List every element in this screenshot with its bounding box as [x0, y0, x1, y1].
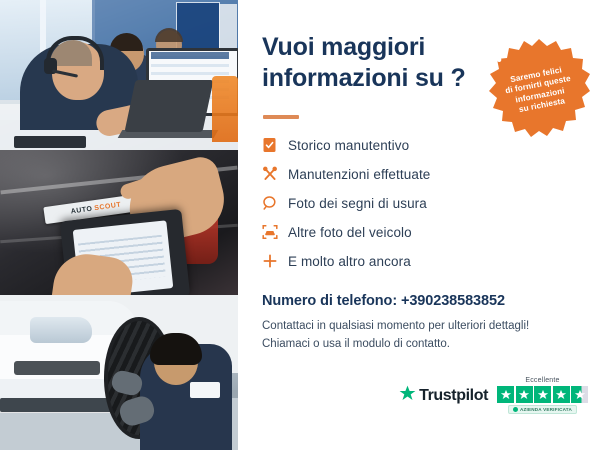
trustpilot-rating-label: Eccellente: [525, 377, 559, 384]
car-grille-shape: [14, 361, 100, 375]
page-title: Vuoi maggiori informazioni su ?: [262, 32, 492, 93]
sticker-text-primary: AUTO: [70, 206, 92, 216]
vehicle-lift-arm-shape: [0, 398, 116, 412]
feature-label: Manutenzioni effettuate: [288, 167, 430, 182]
verified-check-icon: [513, 407, 518, 412]
feature-label: Storico manutentivo: [288, 138, 409, 153]
trustpilot-rating-block[interactable]: Trustpilot Eccellente: [399, 377, 588, 414]
star-filled-3: [534, 386, 551, 403]
magnifier-icon: [262, 195, 288, 211]
contact-note-line-2: Chiamaci o usa il modulo di contatto.: [262, 336, 552, 354]
feature-label: E molto altro ancora: [288, 254, 411, 269]
vehicle-label-tablet-photo: AUTO SCOUT: [0, 150, 238, 295]
badge-text-block: Saremo felici di fornirti queste informa…: [502, 64, 575, 118]
contact-note: Contattaci in qualsiasi momento per ulte…: [262, 318, 552, 354]
trustpilot-wordmark: Trustpilot: [419, 387, 488, 405]
wrench-screwdriver-icon: [262, 166, 288, 182]
call-center-agents-photo: [0, 0, 238, 150]
keyboard-shape: [14, 136, 86, 148]
feature-item-storico-manutentivo: Storico manutentivo: [262, 131, 512, 159]
laptop-screen-shape: [124, 80, 213, 132]
mechanic-uniform-badge-shape: [190, 382, 220, 398]
car-headlamp-shape: [30, 317, 92, 343]
plus-icon: [262, 253, 288, 269]
sticker-text-accent: SCOUT: [94, 202, 122, 213]
trustpilot-stars: [497, 386, 588, 403]
checklist-document-icon: [262, 137, 288, 153]
verified-business-badge: AZIENDA VERIFICATA: [508, 405, 577, 414]
headline-line-2: informazioni su ?: [262, 63, 492, 94]
car-scan-frame-icon: [262, 224, 288, 240]
verified-business-label: AZIENDA VERIFICATA: [520, 407, 572, 412]
feature-item-foto-segni-usura: Foto dei segni di usura: [262, 189, 512, 217]
title-underline-divider: [263, 115, 299, 119]
feature-item-altre-foto-veicolo: Altre foto del veicolo: [262, 218, 512, 246]
feature-item-molto-altro: E molto altro ancora: [262, 247, 512, 275]
star-filled-1: [497, 386, 514, 403]
trustpilot-logo[interactable]: Trustpilot: [399, 385, 488, 407]
monitor-toolbar-shape: [151, 52, 229, 59]
content-panel: Vuoi maggiori informazioni su ? Storico …: [238, 0, 600, 450]
star-filled-4: [553, 386, 570, 403]
promo-banner: AUTO SCOUT: [0, 0, 600, 450]
trustpilot-score: Eccellente: [497, 377, 588, 414]
star-partial-5: [571, 386, 588, 403]
headline-line-1: Vuoi maggiori: [262, 32, 492, 63]
contact-note-line-1: Contattaci in qualsiasi momento per ulte…: [262, 318, 552, 336]
trustpilot-star-icon: [399, 385, 416, 407]
mechanic-wheel-inspection-photo: [0, 295, 238, 450]
feature-item-manutenzioni-effettuate: Manutenzioni effettuate: [262, 160, 512, 188]
badge-content: Saremo felici di fornirti queste informa…: [478, 29, 600, 151]
feature-list: Storico manutentivo Manutenzioni effettu…: [262, 131, 512, 276]
star-filled-2: [516, 386, 533, 403]
photo-collage: AUTO SCOUT: [0, 0, 238, 450]
orange-cone-shape: [212, 76, 238, 142]
phone-number-line: Numero di telefono: +390238583852: [262, 293, 505, 309]
feature-label: Altre foto del veicolo: [288, 225, 412, 240]
starburst-badge: Saremo felici di fornirti queste informa…: [487, 38, 591, 142]
mechanic-hair-shape: [150, 333, 202, 365]
feature-label: Foto dei segni di usura: [288, 196, 427, 211]
